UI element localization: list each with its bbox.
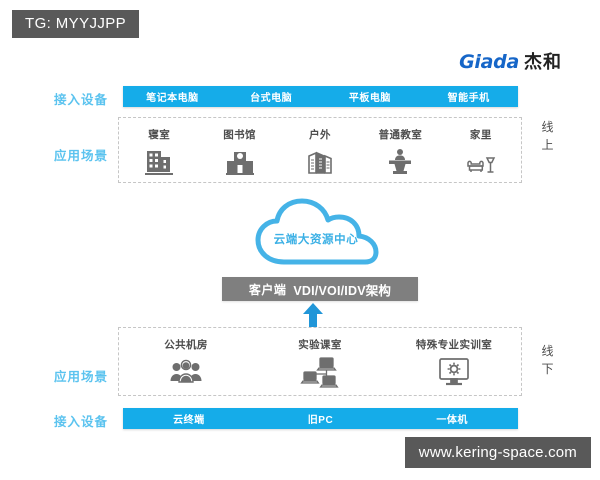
brand-name-en: Giada <box>459 51 519 73</box>
office-building-icon <box>143 147 175 177</box>
diagram-canvas: TG: MYYJJPP Giada 杰和 接入设备 笔记本电脑 台式电脑 平板电… <box>0 0 600 480</box>
online-scene-item-4[interactable]: 家里 <box>441 127 521 177</box>
brand-name-cn: 杰和 <box>524 48 562 74</box>
side-label-offline-line2: 下 <box>535 360 561 378</box>
side-label-offline-line1: 线 <box>535 342 561 360</box>
row-label-offline-scenes: 应用场景 <box>45 366 117 385</box>
offline-device-1[interactable]: 旧PC <box>255 411 387 426</box>
offline-device-2[interactable]: 一体机 <box>386 411 518 426</box>
offline-scene-item-1[interactable]: 实验课室 <box>253 337 387 389</box>
watermark-overlay: www.kering-space.com <box>405 437 591 468</box>
side-label-online: 线 上 <box>535 118 561 154</box>
online-device-1[interactable]: 台式电脑 <box>222 89 321 104</box>
offline-scene-title-0: 公共机房 <box>164 337 208 352</box>
offline-scene-title-1: 实验课室 <box>298 337 342 352</box>
architecture-tech-label: VDI/VOI/IDV架构 <box>293 280 391 299</box>
monitor-gear-icon <box>437 357 471 387</box>
networked-computers-icon <box>300 357 340 389</box>
row-label-online-devices: 接入设备 <box>45 89 117 108</box>
architecture-client-label: 客户端 <box>249 281 287 298</box>
row-label-online-scenes: 应用场景 <box>45 145 117 164</box>
side-label-offline: 线 下 <box>535 342 561 378</box>
armchair-lamp-icon <box>465 147 497 177</box>
cloud-resource-center: 云端大资源中心 <box>246 192 386 272</box>
tg-tag-overlay: TG: MYYJJPP <box>12 10 139 38</box>
online-scene-title-2: 户外 <box>309 127 331 142</box>
online-scene-box: 寝室 <box>118 117 522 183</box>
online-scene-item-2[interactable]: 户外 <box>280 127 360 177</box>
online-scene-item-3[interactable]: 普通教室 <box>360 127 440 177</box>
online-scene-item-0[interactable]: 寝室 <box>119 127 199 177</box>
side-label-online-line2: 上 <box>535 136 561 154</box>
offline-device-bar: 云终端 旧PC 一体机 <box>123 408 518 429</box>
row-label-offline-devices: 接入设备 <box>45 411 117 430</box>
offline-scene-box: 公共机房 实验课室 <box>118 327 522 396</box>
brand-logo: Giada 杰和 <box>459 48 562 74</box>
offline-scene-title-2: 特殊专业实训室 <box>416 337 492 352</box>
offline-scene-item-2[interactable]: 特殊专业实训室 <box>387 337 521 387</box>
offline-device-0[interactable]: 云终端 <box>123 411 255 426</box>
offline-scene-item-0[interactable]: 公共机房 <box>119 337 253 387</box>
cloud-label: 云端大资源中心 <box>246 231 386 247</box>
online-device-3[interactable]: 智能手机 <box>419 89 518 104</box>
online-scene-title-1: 图书馆 <box>223 127 256 142</box>
library-building-icon <box>224 147 256 177</box>
side-label-online-line1: 线 <box>535 118 561 136</box>
online-scene-title-0: 寝室 <box>148 127 170 142</box>
online-scene-item-1[interactable]: 图书馆 <box>199 127 279 177</box>
online-device-bar: 笔记本电脑 台式电脑 平板电脑 智能手机 <box>123 86 518 107</box>
people-group-icon <box>169 357 203 387</box>
architecture-bar: 客户端 VDI/VOI/IDV架构 <box>222 277 418 301</box>
online-scene-title-4: 家里 <box>470 127 492 142</box>
lectern-speaker-icon <box>384 147 416 177</box>
online-device-2[interactable]: 平板电脑 <box>321 89 420 104</box>
online-scene-title-3: 普通教室 <box>379 127 423 142</box>
skyscrapers-icon <box>304 147 336 177</box>
online-device-0[interactable]: 笔记本电脑 <box>123 89 222 104</box>
